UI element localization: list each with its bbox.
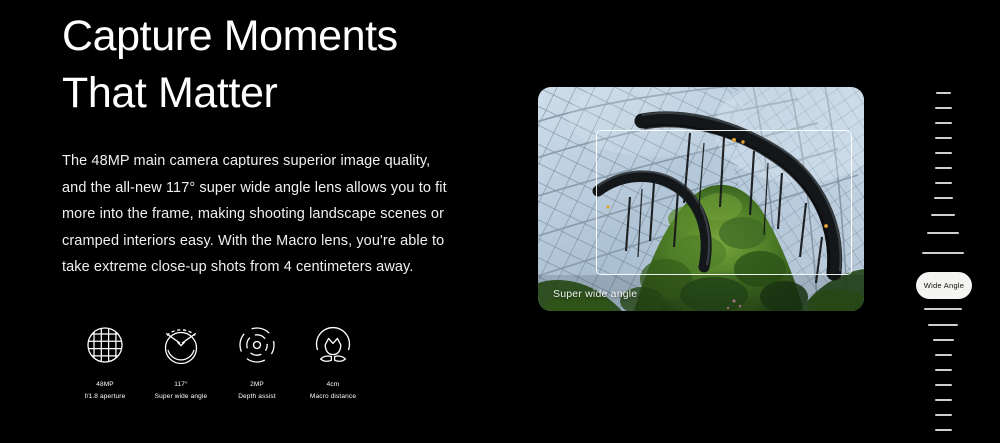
photo-caption: Super wide angle [553,288,637,300]
slider-tick [935,429,952,431]
hero-text-column: Capture Moments That Matter The 48MP mai… [62,0,482,443]
feature-item-117-wide-angle: 117° Super wide angle [152,320,210,401]
feature-item-4cm-macro: 4cm Macro distance [304,320,362,401]
feature-spec-row: 48MP f/1.8 aperture 117° Super wide angl… [76,320,362,401]
slider-tick [935,167,952,169]
slider-tick [933,339,954,341]
slider-tick [934,197,953,199]
glass-dome-conservatory-photo [538,87,864,311]
feature-value: 117° [174,380,188,389]
depth-sensor-icon [232,320,282,370]
page-title: Capture Moments That Matter [62,8,482,122]
wide-angle-field-icon [156,320,206,370]
slider-tick [922,252,964,254]
slider-thumb-wide-angle[interactable]: Wide Angle [916,272,972,299]
feature-value: 48MP [96,380,114,389]
feature-value: 2MP [250,380,264,389]
slider-tick [935,122,952,124]
feature-label: Super wide angle [155,392,208,401]
slider-tick [935,369,952,371]
slider-tick [931,214,955,216]
macro-flower-icon [308,320,358,370]
slider-tick [935,152,952,154]
feature-label: Macro distance [310,392,356,401]
feature-item-48mp: 48MP f/1.8 aperture [76,320,134,401]
hero-description: The 48MP main camera captures superior i… [62,148,454,281]
slider-tick [935,107,952,109]
slider-tick [935,137,952,139]
slider-tick [936,92,951,94]
wide-angle-zoom-slider[interactable]: Wide Angle [908,86,980,314]
feature-value: 4cm [327,380,340,389]
feature-label: f/1.8 aperture [85,392,126,401]
feature-item-2mp-depth: 2MP Depth assist [228,320,286,401]
slider-tick [935,182,952,184]
slider-tick [935,399,952,401]
feature-label: Depth assist [238,392,276,401]
slider-tick [928,324,958,326]
slider-tick [935,354,952,356]
camera-feature-hero-section: Capture Moments That Matter The 48MP mai… [0,0,1000,443]
aperture-grid-icon [80,320,130,370]
slider-tick [935,384,952,386]
slider-tick [927,232,959,234]
slider-tick [924,308,962,310]
slider-tick [935,414,952,416]
